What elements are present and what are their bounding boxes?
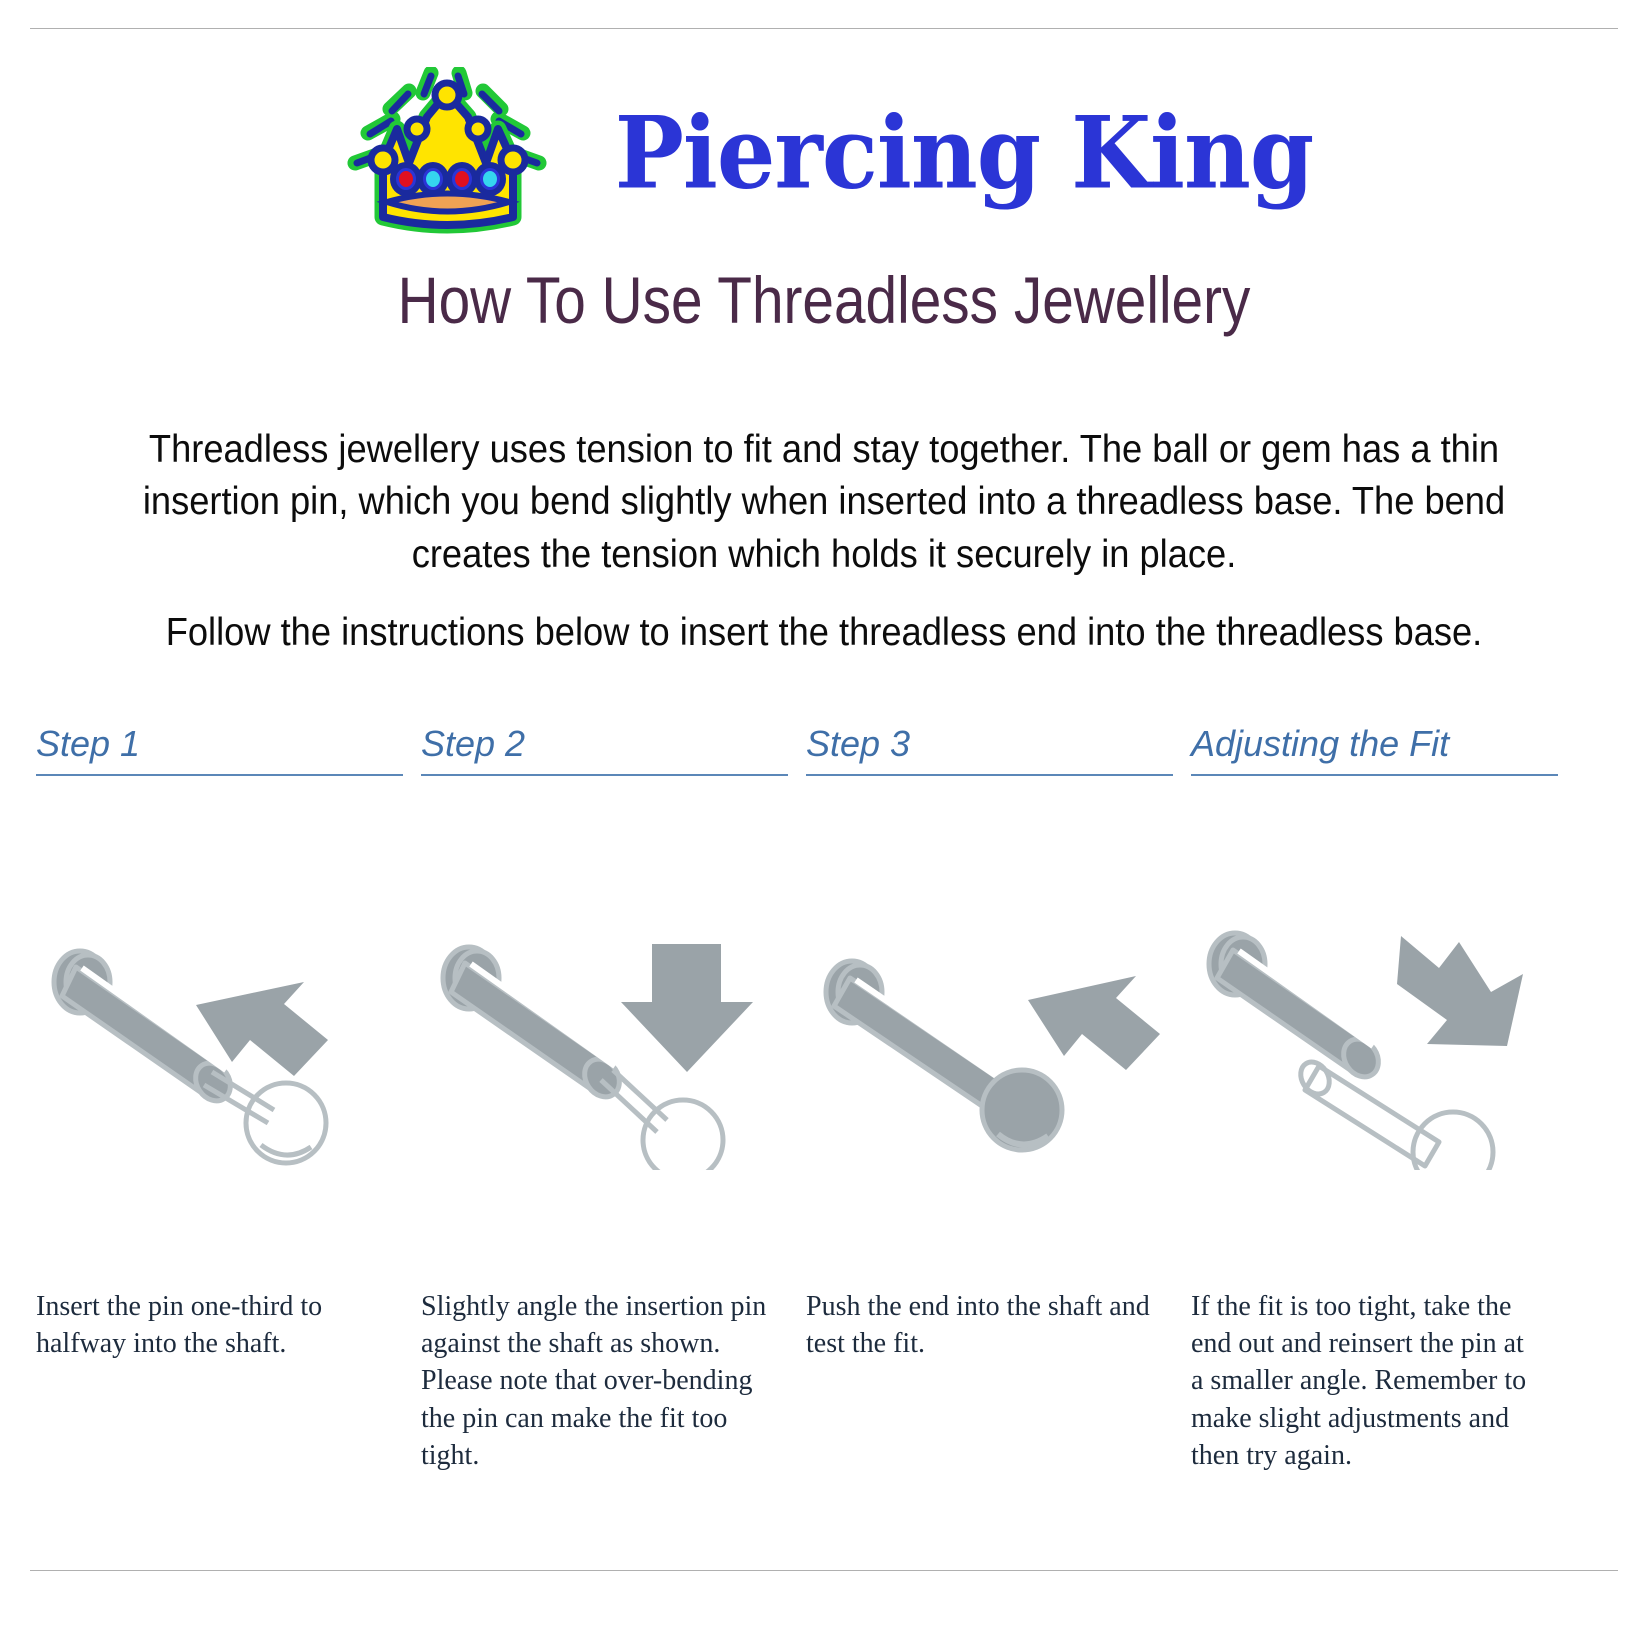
arrow-up-left-icon (1028, 976, 1160, 1070)
page-title: How To Use Threadless Jewellery (115, 266, 1532, 335)
threadless-pin-arrow-down-icon (421, 920, 781, 1170)
threadless-pin-removed-arrow-downleft-icon (1191, 920, 1551, 1170)
bottom-divider (30, 1570, 1618, 1571)
document-page: Piercing King How To Use Threadless Jewe… (0, 0, 1648, 1644)
step-caption-4: If the fit is too tight, take the end ou… (1191, 1288, 1556, 1474)
step-caption-1: Insert the pin one-third to halfway into… (36, 1288, 401, 1362)
caption-column-1: Insert the pin one-third to halfway into… (36, 1288, 421, 1474)
threadless-pin-arrow-upleft-icon (36, 920, 396, 1170)
threadless-pin-seated-arrow-upleft-icon (806, 920, 1166, 1170)
step-caption-2: Slightly angle the insertion pin against… (421, 1288, 786, 1474)
step-heading-3: Step 3 (806, 722, 1173, 776)
brand-wordmark: Piercing King (615, 103, 1313, 202)
figure-column-1 (36, 920, 421, 1180)
step-column-2: Step 2 (421, 722, 806, 776)
crown-icon (335, 67, 563, 239)
step-heading-4: Adjusting the Fit (1191, 722, 1558, 776)
step-column-4: Adjusting the Fit (1191, 722, 1576, 776)
brand-header: Piercing King (0, 60, 1648, 245)
step-column-3: Step 3 (806, 722, 1191, 776)
caption-column-3: Push the end into the shaft and test the… (806, 1288, 1191, 1474)
step-column-1: Step 1 (36, 722, 421, 776)
step-heading-1: Step 1 (36, 722, 403, 776)
figure-column-4 (1191, 920, 1576, 1180)
figure-column-2 (421, 920, 806, 1180)
caption-column-2: Slightly angle the insertion pin against… (421, 1288, 806, 1474)
step-figures-row (36, 920, 1616, 1180)
intro-paragraph-1: Threadless jewellery uses tension to fit… (99, 424, 1550, 581)
intro-text: Threadless jewellery uses tension to fit… (44, 424, 1604, 659)
step-caption-3: Push the end into the shaft and test the… (806, 1288, 1171, 1362)
step-heading-2: Step 2 (421, 722, 788, 776)
arrow-down-left-icon (1397, 936, 1523, 1046)
figure-column-3 (806, 920, 1191, 1180)
arrow-down-icon (621, 944, 753, 1072)
caption-column-4: If the fit is too tight, take the end ou… (1191, 1288, 1576, 1474)
step-captions-row: Insert the pin one-third to halfway into… (36, 1288, 1616, 1474)
top-divider (30, 28, 1618, 29)
step-headings-row: Step 1 Step 2 Step 3 Adjusting the Fit (36, 722, 1616, 776)
intro-paragraph-2: Follow the instructions below to insert … (99, 607, 1550, 659)
